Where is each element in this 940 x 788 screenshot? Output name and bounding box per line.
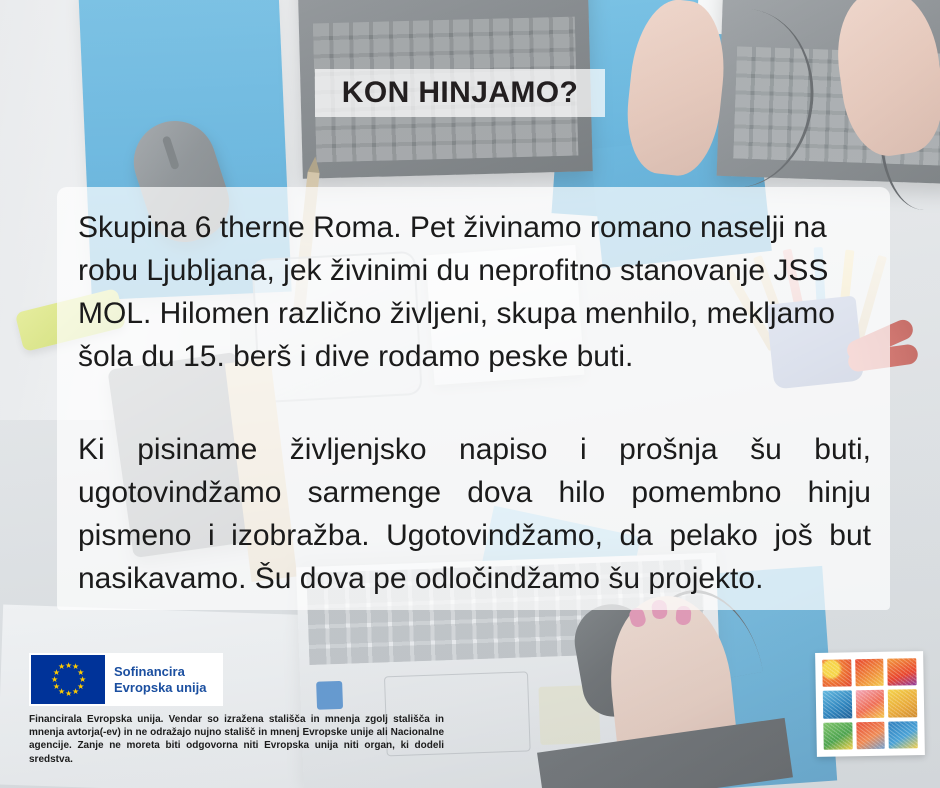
eu-star-icon: ★ bbox=[58, 664, 64, 670]
eu-star-icon: ★ bbox=[65, 663, 71, 669]
art-tile-smile-drawing bbox=[888, 690, 917, 718]
eu-star-icon: ★ bbox=[51, 677, 57, 683]
body-paragraph-2: Ki pisiname življenjsko napiso i prošnja… bbox=[78, 428, 871, 600]
eu-flag-icon: ★★★★★★★★★★★★ bbox=[31, 655, 105, 704]
art-tile-flower-drawing bbox=[823, 722, 852, 750]
eu-logo-text: Sofinancira Evropska unija bbox=[114, 664, 206, 696]
eu-funding-logo: ★★★★★★★★★★★★ Sofinancira Evropska unija bbox=[29, 653, 223, 706]
eu-star-icon: ★ bbox=[65, 691, 71, 697]
art-tile-sun-drawing bbox=[822, 659, 851, 687]
childrens-artwork-card bbox=[815, 651, 925, 757]
art-tile-hand-drawing bbox=[855, 659, 884, 687]
slide-canvas: KON HINJAMO? Skupina 6 therne Roma. Pet … bbox=[0, 0, 940, 788]
art-tile-letter-m-drawing bbox=[888, 658, 917, 686]
eu-star-icon: ★ bbox=[72, 689, 78, 695]
art-tile-moon-drawing bbox=[889, 721, 918, 749]
eu-logo-line-2: Evropska unija bbox=[114, 680, 206, 696]
eu-star-icon: ★ bbox=[53, 684, 59, 690]
funding-disclaimer: Financirala Evropska unija. Vendar so iz… bbox=[29, 713, 444, 766]
body-paragraph-1: Skupina 6 therne Roma. Pet živinamo roma… bbox=[78, 206, 871, 378]
eu-logo-line-1: Sofinancira bbox=[114, 664, 206, 680]
art-tile-eye-drawing bbox=[823, 691, 852, 719]
art-tile-child-face-drawing bbox=[856, 721, 885, 749]
page-title: KON HINJAMO? bbox=[315, 74, 605, 112]
art-tile-face-profile-drawing bbox=[855, 690, 884, 718]
